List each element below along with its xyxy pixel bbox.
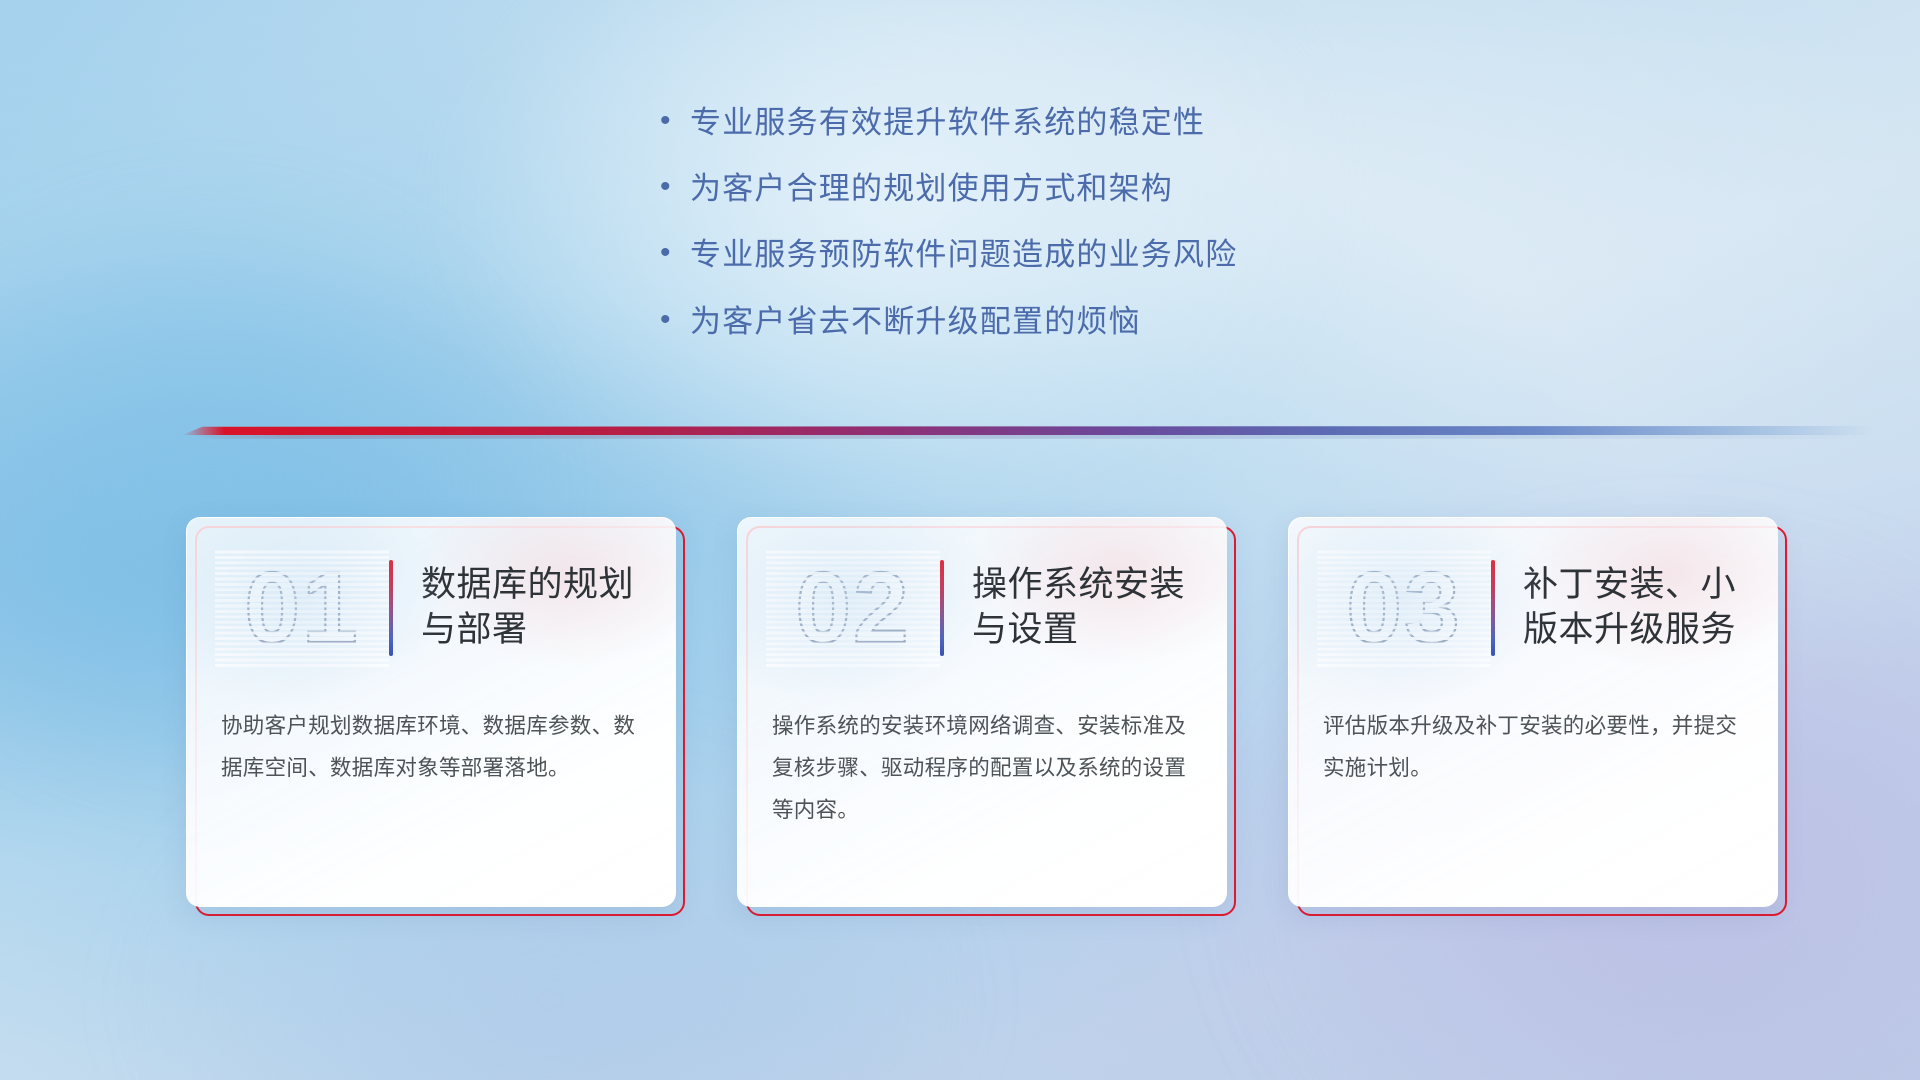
service-card-03[interactable]: 03 补丁安装、小版本升级服务 评估版本升级及补丁安装的必要性，并提交实施计划。 xyxy=(1288,517,1778,907)
bullet-text: 为客户省去不断升级配置的烦恼 xyxy=(690,303,1141,340)
card-surface: 01 数据库的规划与部署 协助客户规划数据库环境、数据库参数、数据库空间、数据库… xyxy=(186,517,676,907)
section-divider xyxy=(0,420,1920,444)
divider-line xyxy=(182,426,1872,435)
bullet-dot-icon: • xyxy=(660,238,690,268)
bullet-text: 为客户合理的规划使用方式和架构 xyxy=(690,170,1173,207)
benefits-bullet-list: • 专业服务有效提升软件系统的稳定性 • 为客户合理的规划使用方式和架构 • 专… xyxy=(660,104,1560,369)
list-item: • 为客户省去不断升级配置的烦恼 xyxy=(660,303,1560,340)
card-title-rule-icon xyxy=(1491,560,1495,656)
card-body-text: 操作系统的安装环境网络调查、安装标准及复核步骤、驱动程序的配置以及系统的设置等内… xyxy=(772,706,1199,832)
card-body-text: 协助客户规划数据库环境、数据库参数、数据库空间、数据库对象等部署落地。 xyxy=(221,706,648,790)
bullet-text: 专业服务有效提升软件系统的稳定性 xyxy=(690,104,1205,141)
card-title: 数据库的规划与部署 xyxy=(421,563,676,653)
card-header: 02 操作系统安装与设置 xyxy=(738,534,1227,682)
list-item: • 专业服务预防软件问题造成的业务风险 xyxy=(660,236,1560,273)
bullet-dot-icon: • xyxy=(660,106,690,136)
bullet-dot-icon: • xyxy=(660,172,690,202)
list-item: • 专业服务有效提升软件系统的稳定性 xyxy=(660,104,1560,141)
card-title: 补丁安装、小版本升级服务 xyxy=(1523,563,1778,653)
card-surface: 02 操作系统安装与设置 操作系统的安装环境网络调查、安装标准及复核步骤、驱动程… xyxy=(737,517,1227,907)
card-title: 操作系统安装与设置 xyxy=(972,563,1227,653)
card-title-rule-icon xyxy=(389,560,393,656)
service-card-02[interactable]: 02 操作系统安装与设置 操作系统的安装环境网络调查、安装标准及复核步骤、驱动程… xyxy=(737,517,1227,907)
card-number: 01 xyxy=(215,558,389,658)
card-surface: 03 补丁安装、小版本升级服务 评估版本升级及补丁安装的必要性，并提交实施计划。 xyxy=(1288,517,1778,907)
card-header: 01 数据库的规划与部署 xyxy=(187,534,676,682)
card-header: 03 补丁安装、小版本升级服务 xyxy=(1289,534,1778,682)
bullet-text: 专业服务预防软件问题造成的业务风险 xyxy=(690,236,1237,273)
service-card-01[interactable]: 01 数据库的规划与部署 协助客户规划数据库环境、数据库参数、数据库空间、数据库… xyxy=(186,517,676,907)
card-body-text: 评估版本升级及补丁安装的必要性，并提交实施计划。 xyxy=(1323,706,1750,790)
service-cards-row: 01 数据库的规划与部署 协助客户规划数据库环境、数据库参数、数据库空间、数据库… xyxy=(0,517,1920,917)
list-item: • 为客户合理的规划使用方式和架构 xyxy=(660,170,1560,207)
slide-canvas: • 专业服务有效提升软件系统的稳定性 • 为客户合理的规划使用方式和架构 • 专… xyxy=(0,0,1920,1080)
card-number: 03 xyxy=(1317,558,1491,658)
bullet-dot-icon: • xyxy=(660,305,690,335)
card-number: 02 xyxy=(766,558,940,658)
card-title-rule-icon xyxy=(940,560,944,656)
